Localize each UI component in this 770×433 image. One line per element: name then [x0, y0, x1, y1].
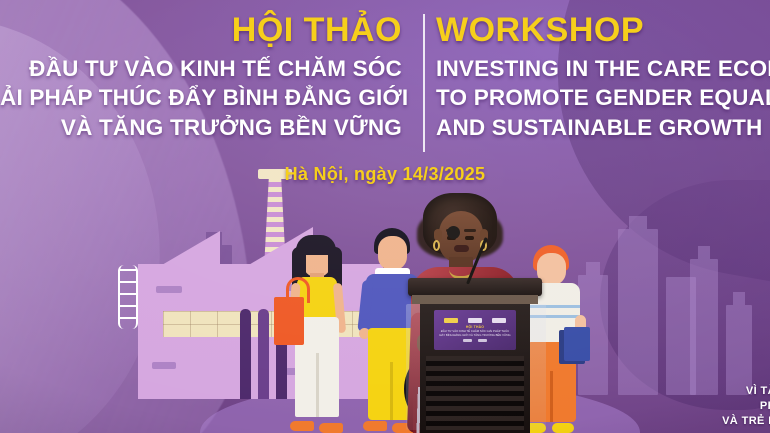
event-date: Hà Nội, ngày 14/3/2025	[0, 164, 770, 185]
slogan-line-1: VÌ TĂ	[722, 384, 770, 399]
headline-vietnamese: HỘI THẢO ĐẦU TƯ VÀO KINH TẾ CHĂM SÓC ẢI …	[0, 12, 412, 142]
slogan-line-3: VÀ TRẺ E	[722, 414, 770, 429]
subtitle-en-line-1: INVESTING IN THE CARE ECON	[436, 54, 770, 83]
headline-divider	[423, 14, 425, 152]
subtitle-vi-line-1: ĐẦU TƯ VÀO KINH TẾ CHĂM SÓC	[0, 54, 402, 83]
headline-block: HỘI THẢO ĐẦU TƯ VÀO KINH TẾ CHĂM SÓC ẢI …	[0, 0, 770, 200]
page-title-vietnamese: HỘI THẢO	[0, 12, 402, 48]
subtitle-en-line-2: TO PROMOTE GENDER EQUAL	[436, 83, 770, 112]
subtitle-vi-line-3: VÀ TĂNG TRƯỞNG BỀN VỮNG	[0, 113, 402, 142]
page-title-english: WORKSHOP	[436, 12, 770, 48]
corner-slogan: VÌ TĂ PH VÀ TRẺ E	[722, 384, 770, 429]
headline-english: WORKSHOP INVESTING IN THE CARE ECON TO P…	[436, 12, 770, 142]
subtitle-en-line-3: AND SUSTAINABLE GROWTH	[436, 113, 770, 142]
event-banner-screenshot: HỘI THẢO ĐẦU TƯ VÀO KINH TẾ CHĂM SÓC GIẢ…	[0, 0, 770, 433]
subtitle-vi-line-2: ẢI PHÁP THÚC ĐẨY BÌNH ĐẲNG GIỚI	[0, 83, 402, 112]
slogan-line-2: PH	[722, 399, 770, 414]
